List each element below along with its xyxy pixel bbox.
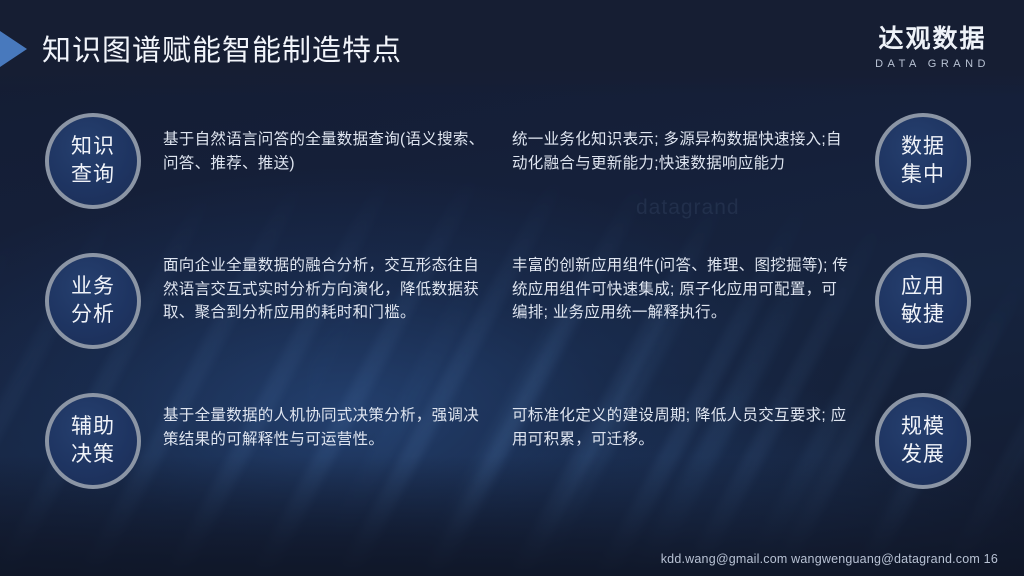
description-right: 丰富的创新应用组件(问答、推理、图挖掘等); 传统应用组件可快速集成; 原子化应… (512, 254, 852, 325)
bubble-business-analysis[interactable]: 业务 分析 (45, 253, 141, 349)
bubble-line-2: 集中 (901, 161, 945, 189)
description-left: 基于自然语言问答的全量数据查询(语义搜索、问答、推荐、推送) (163, 128, 493, 175)
description-right: 可标准化定义的建设周期; 降低人员交互要求; 应用可积累，可迁移。 (512, 404, 852, 451)
feature-row: 业务 分析 面向企业全量数据的融合分析，交互形态往自然语言交互式实时分析方向演化… (0, 240, 1024, 380)
logo-english-name: DATA GRAND (875, 58, 990, 70)
footer-contact: kdd.wang@gmail.com wangwenguang@datagran… (661, 552, 998, 566)
bubble-line-2: 分析 (71, 301, 115, 329)
bubble-line-1: 辅助 (71, 413, 115, 441)
feature-rows: 知识 查询 基于自然语言问答的全量数据查询(语义搜索、问答、推荐、推送) 统一业… (0, 100, 1024, 520)
bubble-line-1: 应用 (901, 273, 945, 301)
bubble-line-1: 规模 (901, 413, 945, 441)
bubble-line-1: 业务 (71, 273, 115, 301)
bubble-scale-development[interactable]: 规模 发展 (875, 393, 971, 489)
bubble-line-2: 查询 (71, 161, 115, 189)
slide: 知识图谱赋能智能制造特点 达观数据 DATA GRAND datagrand 知… (0, 0, 1024, 576)
description-left: 面向企业全量数据的融合分析，交互形态往自然语言交互式实时分析方向演化，降低数据获… (163, 254, 493, 325)
description-left: 基于全量数据的人机协同式决策分析，强调决策结果的可解释性与可运营性。 (163, 404, 493, 451)
bubble-line-2: 决策 (71, 441, 115, 469)
page-title: 知识图谱赋能智能制造特点 (42, 27, 402, 69)
bubble-application-agility[interactable]: 应用 敏捷 (875, 253, 971, 349)
bubble-line-2: 发展 (901, 441, 945, 469)
bubble-data-centralization[interactable]: 数据 集中 (875, 113, 971, 209)
description-right: 统一业务化知识表示; 多源异构数据快速接入;自动化融合与更新能力;快速数据响应能… (512, 128, 852, 175)
logo-chinese-name: 达观数据 (875, 26, 990, 54)
feature-row: 辅助 决策 基于全量数据的人机协同式决策分析，强调决策结果的可解释性与可运营性。… (0, 380, 1024, 520)
feature-row: 知识 查询 基于自然语言问答的全量数据查询(语义搜索、问答、推荐、推送) 统一业… (0, 100, 1024, 240)
bubble-line-2: 敏捷 (901, 301, 945, 329)
bubble-knowledge-query[interactable]: 知识 查询 (45, 113, 141, 209)
brand-logo: 达观数据 DATA GRAND (875, 26, 990, 70)
triangle-right-icon (0, 31, 27, 67)
bubble-line-1: 知识 (71, 133, 115, 161)
bubble-line-1: 数据 (901, 133, 945, 161)
bubble-decision-support[interactable]: 辅助 决策 (45, 393, 141, 489)
